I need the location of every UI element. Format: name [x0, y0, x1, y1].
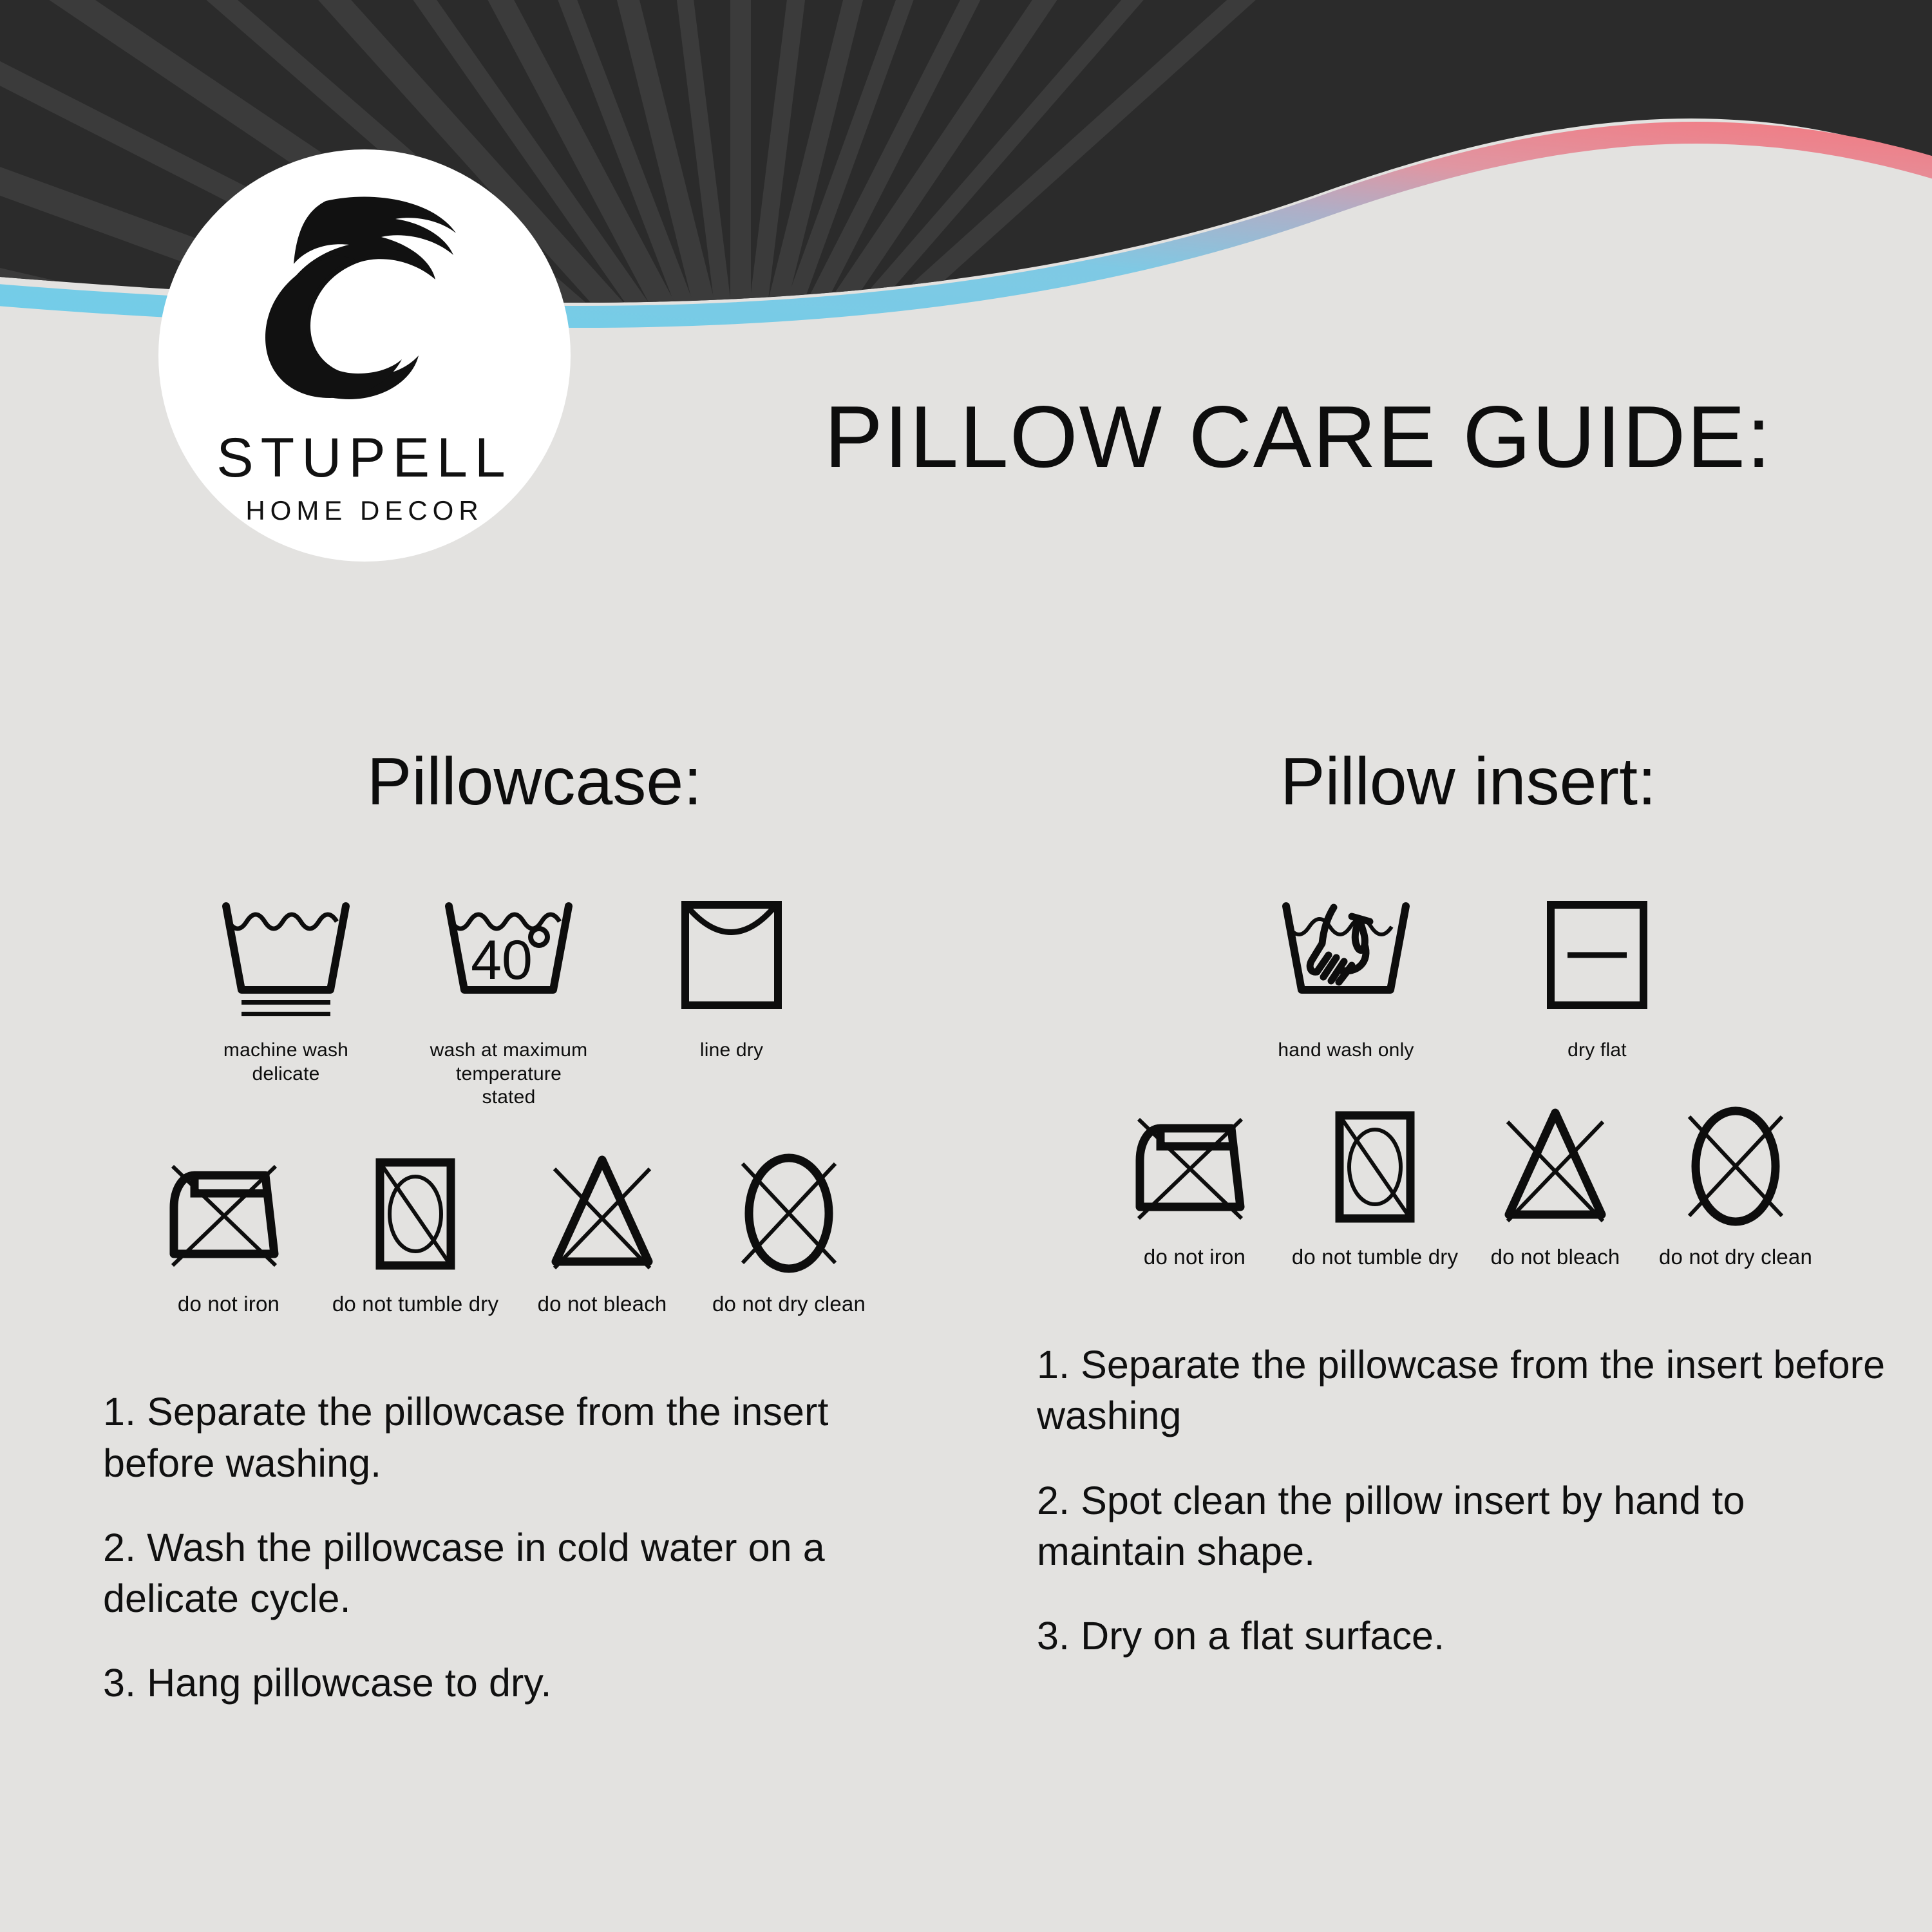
step-item: 3. Hang pillowcase to dry. — [103, 1658, 940, 1709]
care-symbol-do-not-tumble-dry: do not tumble dry — [1301, 1099, 1449, 1270]
machine-wash-delicate-icon — [212, 893, 360, 1022]
care-symbol-do-not-dry-clean: do not dry clean — [1662, 1099, 1810, 1270]
pillow-insert-steps: 1. Separate the pillowcase from the inse… — [1030, 1340, 1893, 1662]
brand-tagline: HOME DECOR — [245, 497, 483, 524]
pillow-insert-symbol-row-2: do not iron do not tumble dry — [1030, 1099, 1893, 1270]
do-not-bleach-icon — [1491, 1099, 1620, 1227]
care-symbol-caption: do not tumble dry — [332, 1291, 498, 1317]
care-symbol-caption: hand wash only — [1278, 1039, 1414, 1063]
care-symbol-do-not-bleach: do not bleach — [1481, 1099, 1629, 1270]
pillowcase-symbol-row-2: do not iron do not tumble dry — [77, 1146, 940, 1317]
care-symbol-wash-40: 40 wash at maximum temperature stated — [428, 893, 589, 1110]
pillowcase-symbol-row-1: machine wash delicate 40 wash at maximum… — [77, 893, 940, 1110]
step-item: 1. Separate the pillowcase from the inse… — [103, 1387, 940, 1489]
care-symbol-caption: do not iron — [1144, 1244, 1245, 1270]
do-not-tumble-dry-icon — [354, 1146, 477, 1274]
pillowcase-steps: 1. Separate the pillowcase from the inse… — [77, 1387, 940, 1709]
do-not-tumble-dry-icon — [1314, 1099, 1436, 1227]
care-guide-poster: STUPELL HOME DECOR PILLOW CARE GUIDE: Pi… — [0, 0, 1932, 1932]
pillowcase-section: Pillowcase: machine wash delicate — [77, 747, 940, 1743]
care-symbol-do-not-dry-clean: do not dry clean — [715, 1146, 863, 1317]
care-symbol-caption: do not tumble dry — [1292, 1244, 1458, 1270]
care-symbol-do-not-bleach: do not bleach — [528, 1146, 676, 1317]
brand-logo-badge: STUPELL HOME DECOR — [158, 149, 571, 562]
wash-40-degrees-icon: 40 — [435, 893, 583, 1022]
svg-text:40: 40 — [471, 929, 533, 991]
do-not-dry-clean-icon — [1671, 1099, 1800, 1227]
care-symbol-machine-wash-delicate: machine wash delicate — [205, 893, 366, 1086]
care-symbol-caption: do not dry clean — [1659, 1244, 1812, 1270]
care-symbol-caption: wash at maximum temperature stated — [428, 1039, 589, 1110]
do-not-dry-clean-icon — [724, 1146, 853, 1274]
do-not-iron-icon — [161, 1146, 296, 1274]
page-title: PILLOW CARE GUIDE: — [824, 386, 1829, 487]
do-not-bleach-icon — [538, 1146, 667, 1274]
care-symbol-caption: line dry — [700, 1039, 763, 1063]
care-symbol-do-not-iron: do not iron — [1121, 1099, 1269, 1270]
care-symbol-line-dry: line dry — [651, 893, 812, 1063]
step-item: 2. Spot clean the pillow insert by hand … — [1037, 1475, 1893, 1578]
dry-flat-icon — [1533, 893, 1662, 1022]
care-symbol-caption: machine wash delicate — [223, 1039, 348, 1086]
hand-wash-only-icon — [1272, 893, 1420, 1022]
line-dry-icon — [667, 893, 796, 1022]
care-symbol-do-not-tumble-dry: do not tumble dry — [341, 1146, 489, 1317]
pillow-insert-symbol-row-1: hand wash only dry flat — [1030, 893, 1893, 1063]
stupell-swoosh-logo-icon — [229, 183, 500, 421]
care-symbol-caption: do not bleach — [538, 1291, 667, 1317]
care-symbol-caption: do not iron — [178, 1291, 279, 1317]
step-item: 1. Separate the pillowcase from the inse… — [1037, 1340, 1893, 1442]
care-symbol-dry-flat: dry flat — [1517, 893, 1678, 1063]
care-symbol-caption: do not dry clean — [712, 1291, 866, 1317]
care-symbol-hand-wash-only: hand wash only — [1265, 893, 1426, 1063]
pillowcase-heading: Pillowcase: — [77, 747, 940, 817]
brand-name: STUPELL — [216, 430, 512, 486]
pillow-insert-heading: Pillow insert: — [1030, 747, 1893, 817]
step-item: 2. Wash the pillowcase in cold water on … — [103, 1522, 940, 1625]
do-not-iron-icon — [1127, 1099, 1262, 1227]
step-item: 3. Dry on a flat surface. — [1037, 1611, 1893, 1662]
pillow-insert-section: Pillow insert: — [1030, 747, 1893, 1696]
care-symbol-caption: do not bleach — [1491, 1244, 1620, 1270]
care-symbol-do-not-iron: do not iron — [155, 1146, 303, 1317]
care-symbol-caption: dry flat — [1567, 1039, 1627, 1063]
